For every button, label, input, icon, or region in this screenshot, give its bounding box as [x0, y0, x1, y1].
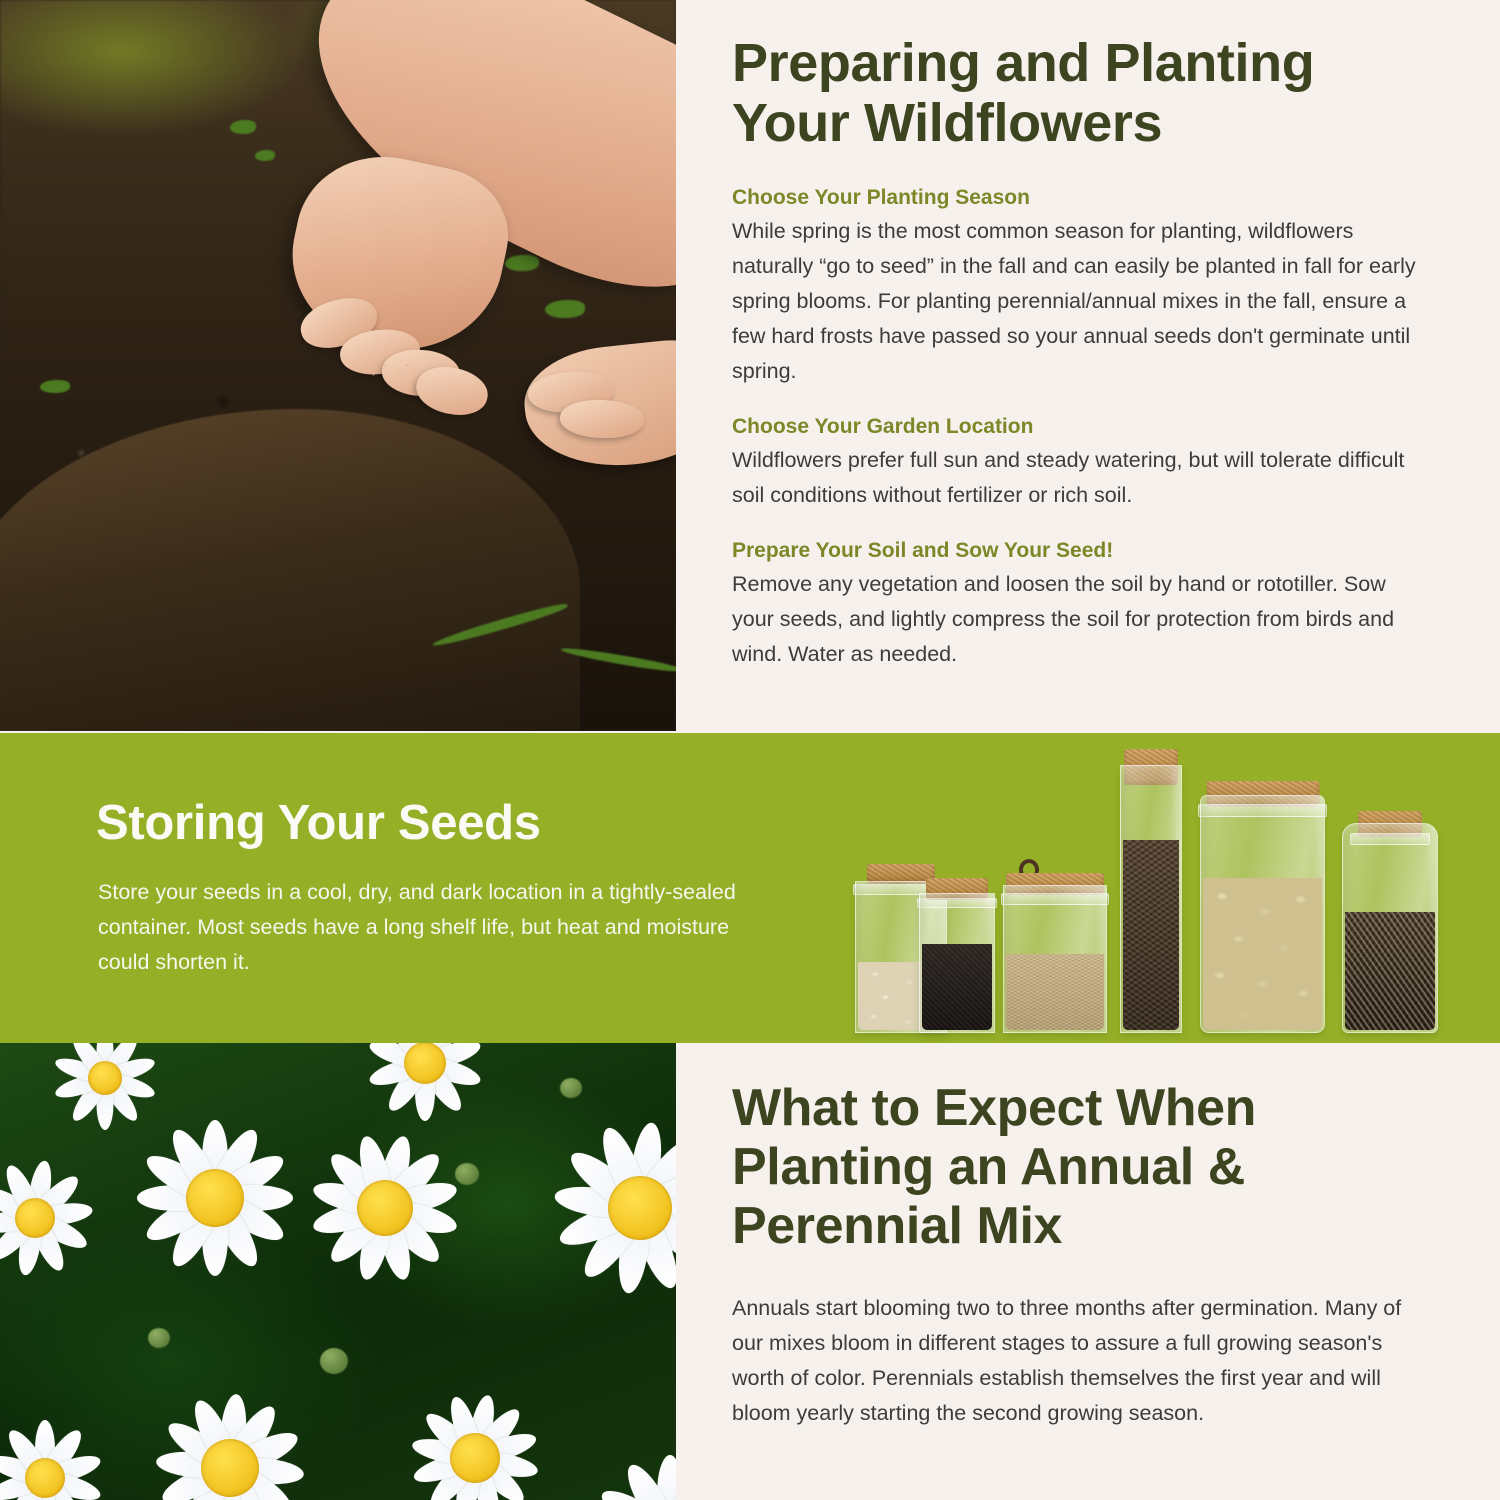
bottom-text-column: What to Expect When Planting an Annual &… [732, 1043, 1432, 1431]
daisy-flower [390, 1373, 560, 1500]
jar-tan-fine-seeds [1003, 885, 1107, 1033]
daisy-flower [290, 1113, 480, 1303]
jar-dark-seeds-tall [1120, 765, 1182, 1033]
flower-bud [320, 1348, 348, 1374]
section-preparing-and-planting: Preparing and Planting Your Wildflowers … [0, 0, 1500, 733]
storing-seeds-title: Storing Your Seeds [96, 795, 541, 851]
jar-sunflower-seeds [1342, 823, 1438, 1033]
jar-contents-sunflower-seeds [1345, 912, 1435, 1030]
daisy-flower [530, 1098, 676, 1318]
subheading-prepare-soil: Prepare Your Soil and Sow Your Seed! [732, 539, 1432, 563]
storing-seeds-paragraph: Store your seeds in a cool, dry, and dar… [98, 875, 738, 979]
jar-contents-tan-seeds [1006, 954, 1104, 1030]
flower-bud [560, 1078, 582, 1098]
daisy-flower [135, 1373, 325, 1500]
glass-jars-of-seeds-photo [855, 753, 1445, 1033]
white-daisies-photo [0, 1043, 676, 1500]
hands-sowing-seeds-in-soil-photo [0, 0, 676, 731]
paragraph-prepare-soil: Remove any vegetation and loosen the soi… [732, 567, 1432, 672]
what-to-expect-title: What to Expect When Planting an Annual &… [732, 1079, 1372, 1255]
daisy-flower [570, 1433, 676, 1500]
flower-bud [148, 1328, 170, 1348]
sprout-icon [40, 380, 70, 393]
jar-black-seeds [919, 893, 995, 1033]
section-storing-your-seeds: Storing Your Seeds Store your seeds in a… [0, 733, 1500, 1043]
paragraph-planting-season: While spring is the most common season f… [732, 214, 1432, 389]
sprout-icon [545, 300, 585, 318]
daisy-flower [350, 1043, 500, 1138]
daisy-flower [0, 1403, 120, 1500]
paragraph-garden-location: Wildflowers prefer full sun and steady w… [732, 443, 1432, 513]
infographic-page: Preparing and Planting Your Wildflowers … [0, 0, 1500, 1500]
subheading-planting-season: Choose Your Planting Season [732, 186, 1432, 210]
jar-contents-pumpkin-seeds [1203, 878, 1322, 1030]
subheading-garden-location: Choose Your Garden Location [732, 415, 1432, 439]
flower-bud [455, 1163, 479, 1185]
top-text-column: Preparing and Planting Your Wildflowers … [732, 0, 1432, 672]
page-title: Preparing and Planting Your Wildflowers [732, 34, 1392, 154]
daisy-flower [115, 1098, 315, 1298]
section-what-to-expect: What to Expect When Planting an Annual &… [0, 1043, 1500, 1500]
sprout-icon [230, 120, 256, 134]
jar-contents-black-seeds [922, 944, 992, 1030]
what-to-expect-paragraph: Annuals start blooming two to three mont… [732, 1291, 1432, 1431]
jar-pumpkin-seeds [1200, 795, 1325, 1033]
daisy-flower [0, 1143, 110, 1293]
jar-contents-dark-seeds [1123, 840, 1179, 1030]
sprout-icon [505, 255, 539, 271]
sprout-icon [255, 150, 275, 161]
